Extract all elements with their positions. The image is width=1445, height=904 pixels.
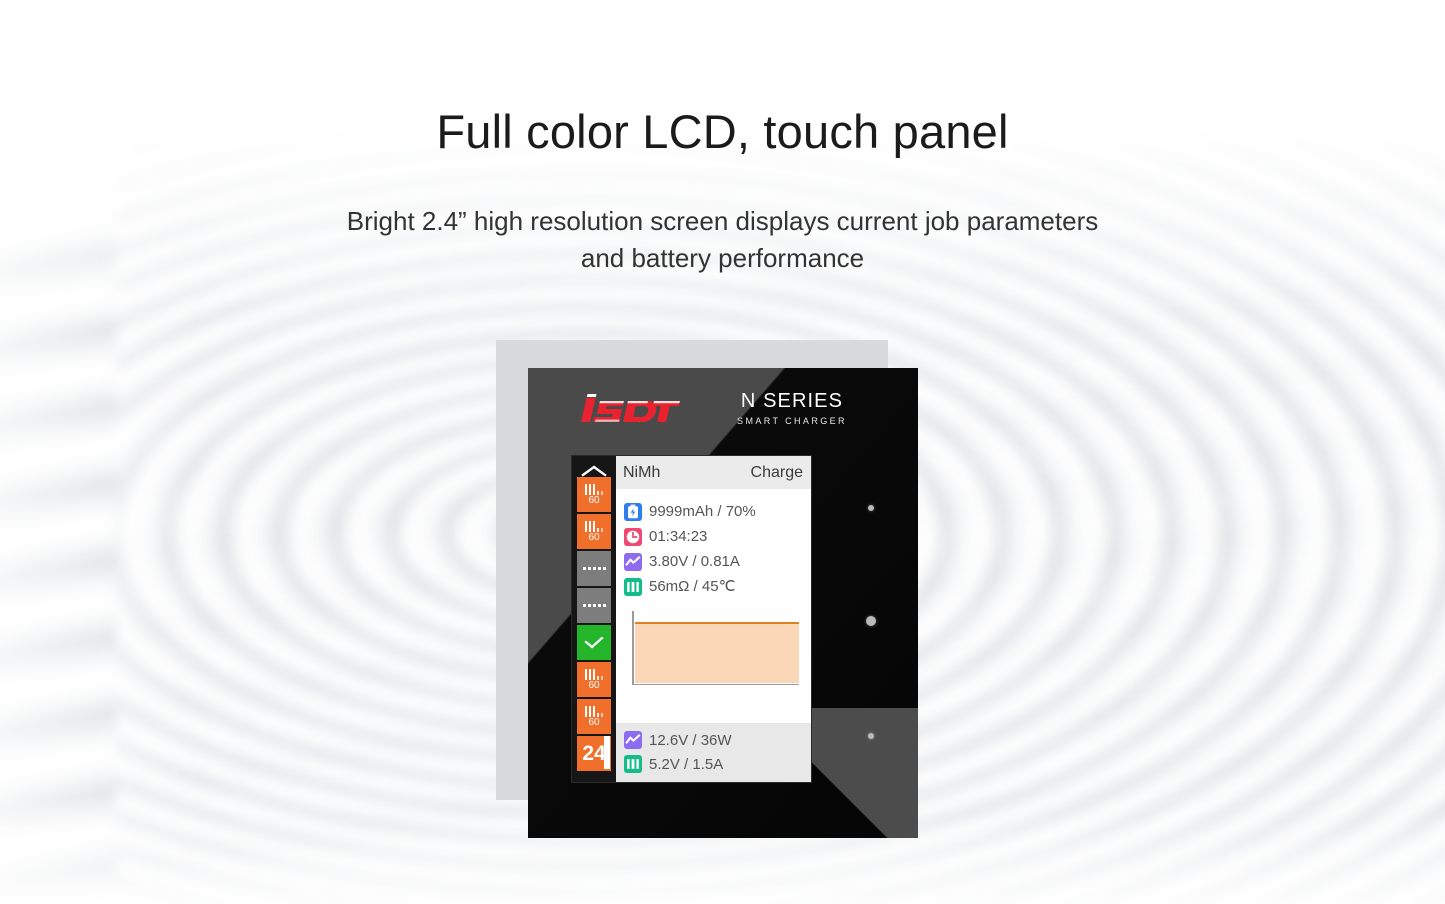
indicator-dot-2[interactable] <box>866 616 876 626</box>
series-branding: N SERIES SMART CHARGER <box>716 390 868 426</box>
chevron-up-icon <box>581 465 607 477</box>
footer-value-usb-output: 5.2V / 1.5A <box>649 757 723 772</box>
check-icon <box>584 637 604 649</box>
battery-bars-icon <box>585 706 604 717</box>
readout-row-capacity: 9999mAh / 70% <box>624 499 803 524</box>
battery-bars-icon <box>585 669 604 680</box>
channel-tile-label: 60 <box>588 718 599 728</box>
readout-value-resistance-temp: 56mΩ / 45℃ <box>649 579 735 594</box>
indicator-dot-1[interactable] <box>868 505 874 511</box>
chart-y-axis <box>632 611 634 685</box>
clock-icon <box>624 528 642 546</box>
channel-tile-5[interactable] <box>577 625 611 660</box>
isdt-logo-icon <box>572 392 684 428</box>
resistance-icon <box>624 578 642 596</box>
page-subtitle-line2: and battery performance <box>0 240 1445 277</box>
lcd-footer: 12.6V / 36W 5.2V / 1.5A <box>616 723 811 782</box>
rail-scroll-up-button[interactable] <box>577 457 611 477</box>
readout-row-resistance-temp: 56mΩ / 45℃ <box>624 574 803 599</box>
battery-charge-icon <box>624 503 642 521</box>
channel-tile-label: 60 <box>588 533 599 543</box>
resistance-icon <box>624 755 642 773</box>
channel-tile-label: 60 <box>588 496 599 506</box>
channel-rail[interactable]: 60 60 <box>572 456 616 782</box>
lcd-header: NiMh Charge <box>616 456 811 489</box>
voltage-graph-icon <box>624 731 642 749</box>
charger-device: N SERIES SMART CHARGER 60 <box>496 340 920 840</box>
charger-front-panel: N SERIES SMART CHARGER 60 <box>528 368 918 838</box>
channel-tile-2[interactable]: 60 <box>577 514 611 549</box>
lcd-content: NiMh Charge 9999 <box>616 456 811 782</box>
branding-row: N SERIES SMART CHARGER <box>528 384 918 446</box>
channel-tile-8[interactable]: 24 <box>577 736 611 771</box>
readout-row-voltage-current: 3.80V / 0.81A <box>624 549 803 574</box>
chart-area-fill <box>635 623 799 683</box>
footer-row-usb-output: 5.2V / 1.5A <box>624 752 803 776</box>
channel-tile-3[interactable] <box>577 551 611 586</box>
channel-tile-1[interactable]: 60 <box>577 477 611 512</box>
channel-tile-label: 24 <box>582 743 605 764</box>
page-title: Full color LCD, touch panel <box>0 104 1445 159</box>
lcd-readout-list: 9999mAh / 70% 01:34:23 <box>616 489 811 723</box>
readout-value-voltage-current: 3.80V / 0.81A <box>649 554 740 569</box>
channel-tile-7[interactable]: 60 <box>577 699 611 734</box>
series-subtitle: SMART CHARGER <box>716 416 868 426</box>
indicator-dot-3[interactable] <box>868 733 874 739</box>
footer-row-input-power: 12.6V / 36W <box>624 728 803 752</box>
promo-page: Full color LCD, touch panel Bright 2.4” … <box>0 0 1445 904</box>
page-subtitle: Bright 2.4” high resolution screen displ… <box>0 203 1445 277</box>
channel-tile-4[interactable] <box>577 588 611 623</box>
lcd-screen[interactable]: 60 60 <box>572 456 811 782</box>
readout-value-capacity: 9999mAh / 70% <box>649 504 756 519</box>
dashes-icon <box>583 604 606 607</box>
page-subtitle-line1: Bright 2.4” high resolution screen displ… <box>0 203 1445 240</box>
battery-bars-icon <box>585 521 604 532</box>
rail-scrollbar-thumb[interactable] <box>604 736 610 769</box>
footer-value-input-power: 12.6V / 36W <box>649 733 732 748</box>
channel-tile-label: 60 <box>588 681 599 691</box>
dashes-icon <box>583 567 606 570</box>
chart-x-axis <box>632 684 799 686</box>
voltage-graph-icon <box>624 553 642 571</box>
chart-series-line <box>635 622 799 625</box>
series-title: N SERIES <box>716 390 868 412</box>
battery-bars-icon <box>585 484 604 495</box>
headings-block: Full color LCD, touch panel Bright 2.4” … <box>0 104 1445 277</box>
channel-tile-6[interactable]: 60 <box>577 662 611 697</box>
readout-value-time: 01:34:23 <box>649 529 707 544</box>
mode-label: Charge <box>751 465 803 481</box>
charge-curve-chart <box>632 611 799 685</box>
battery-type-label: NiMh <box>623 465 660 481</box>
readout-row-time: 01:34:23 <box>624 524 803 549</box>
